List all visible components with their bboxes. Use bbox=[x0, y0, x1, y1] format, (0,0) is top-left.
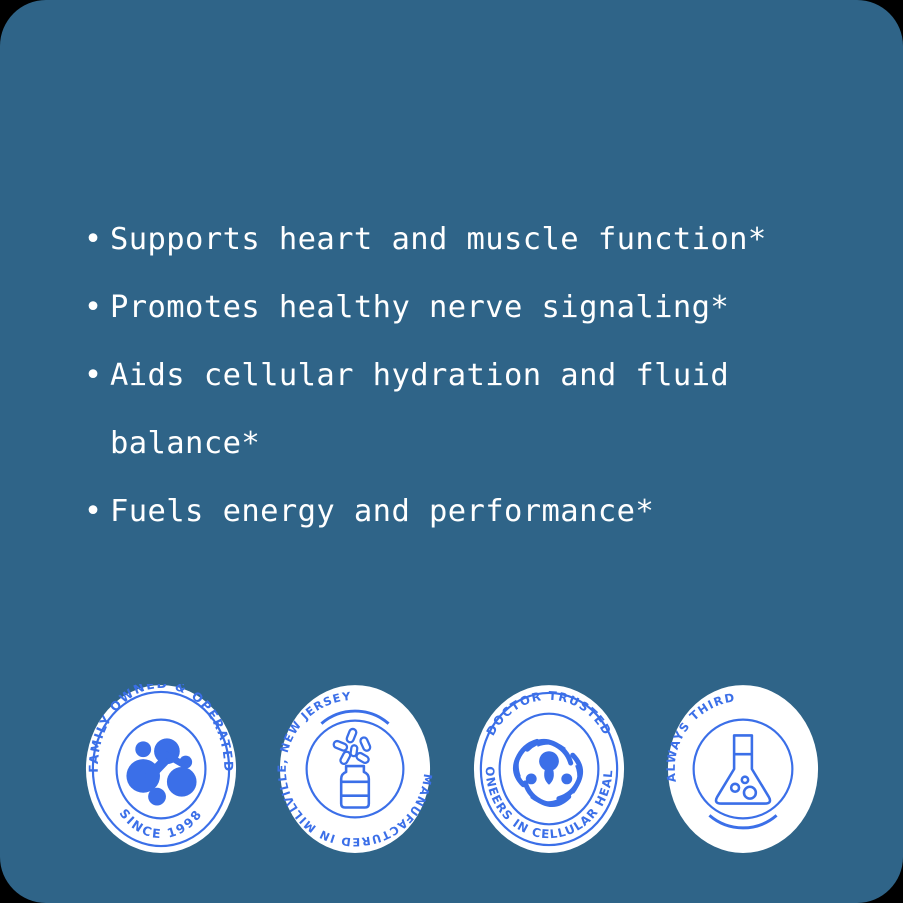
badge-doctor-trusted: DOCTOR TRUSTED PIONEERS IN CELLULAR HEAL… bbox=[470, 684, 628, 854]
bullet-icon: • bbox=[84, 342, 110, 410]
trust-badges-row: FAMILY OWNED & OPERATED SINCE 1998 bbox=[82, 684, 822, 854]
list-item: • Aids cellular hydration and fluid bala… bbox=[84, 342, 844, 478]
bullet-icon: • bbox=[84, 206, 110, 274]
badge-third-party-tested: ALWAYS THIRD PARTY TESTED AND VERIFIED bbox=[664, 684, 822, 854]
benefit-text: Fuels energy and performance* bbox=[110, 478, 844, 546]
benefit-text: Supports heart and muscle function* bbox=[110, 206, 844, 274]
list-item: • Fuels energy and performance* bbox=[84, 478, 844, 546]
list-item: • Promotes healthy nerve signaling* bbox=[84, 274, 844, 342]
badge-family-owned: FAMILY OWNED & OPERATED SINCE 1998 bbox=[82, 684, 240, 854]
list-item: • Supports heart and muscle function* bbox=[84, 206, 844, 274]
badge-manufactured-nj: MANUFACTURED IN MILLVILLE, NEW JERSEY bbox=[276, 684, 434, 854]
bullet-icon: • bbox=[84, 478, 110, 546]
benefit-text: Aids cellular hydration and fluid balanc… bbox=[110, 342, 844, 478]
benefit-text: Promotes healthy nerve signaling* bbox=[110, 274, 844, 342]
bullet-icon: • bbox=[84, 274, 110, 342]
product-benefits-card: • Supports heart and muscle function* • … bbox=[0, 0, 903, 903]
benefits-list: • Supports heart and muscle function* • … bbox=[84, 206, 844, 546]
